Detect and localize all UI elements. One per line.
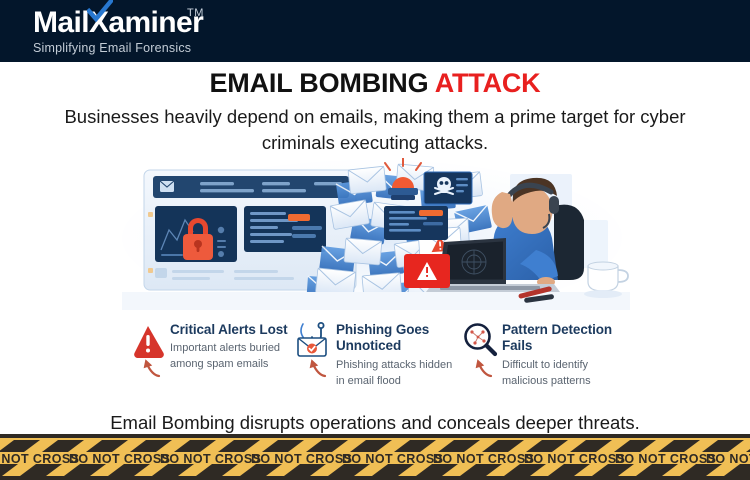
tape-label: DO NOT CROSS — [69, 452, 170, 466]
caution-tape: DO NOT CROSSDO NOT CROSSDO NOT CROSSDO N… — [0, 434, 750, 480]
feature-item-critical-alerts[interactable]: Critical Alerts Lost Important alerts bu… — [128, 322, 294, 400]
curved-arrow-icon — [468, 354, 494, 378]
caution-tape-graphic: DO NOT CROSSDO NOT CROSSDO NOT CROSSDO N… — [0, 434, 750, 480]
infographic-page: MailXaminer TM Simplifying Email Forensi… — [0, 0, 750, 480]
page-subtitle: Businesses heavily depend on emails, mak… — [55, 104, 695, 157]
brand-logo[interactable]: MailXaminer TM Simplifying Email Forensi… — [33, 8, 203, 55]
brand-tagline: Simplifying Email Forensics — [33, 42, 203, 55]
feature-item-phishing[interactable]: Phishing Goes Unnoticed Phishing attacks… — [294, 322, 460, 400]
curved-arrow-icon — [302, 354, 328, 378]
logo-wordmark: MailXaminer TM — [33, 8, 203, 38]
red-alert-card — [404, 254, 450, 288]
title-part-primary: EMAIL BOMBING — [210, 68, 435, 98]
page-title: EMAIL BOMBING ATTACK — [0, 68, 750, 99]
tape-label: DO NOT CROSS — [160, 452, 261, 466]
feature-description: Important alerts buried among spam email… — [170, 341, 294, 372]
footer-caption: Email Bombing disrupts operations and co… — [0, 412, 750, 434]
tape-label: DO NOT CROSS — [0, 452, 79, 466]
feature-description: Phishing attacks hidden in email flood — [336, 358, 460, 389]
title-part-accent: ATTACK — [435, 68, 541, 98]
illustration-artwork — [122, 158, 630, 310]
feature-title: Critical Alerts Lost — [170, 322, 294, 338]
tape-label: DO NOT CROSS — [433, 452, 534, 466]
header-bar: MailXaminer TM Simplifying Email Forensi… — [0, 0, 750, 62]
feature-description: Difficult to identify malicious patterns — [502, 358, 626, 389]
magnifier-pattern-icon — [462, 322, 498, 358]
feature-title: Pattern Detection Fails — [502, 322, 626, 355]
hero-illustration — [122, 158, 630, 310]
warning-triangle-icon — [130, 322, 166, 358]
tape-label: DO NOT CROSS — [524, 452, 625, 466]
tape-label: DO NOT CROSS — [251, 452, 352, 466]
tape-label: DO NOT CROSS — [615, 452, 716, 466]
feature-item-pattern-detection[interactable]: Pattern Detection Fails Difficult to ide… — [460, 322, 626, 400]
feature-title: Phishing Goes Unnoticed — [336, 322, 460, 355]
tape-label: DO NOT CROSS — [342, 452, 443, 466]
logo-text-mail: Mail — [33, 6, 89, 39]
logo-text-x: X — [89, 8, 108, 38]
console-panel — [384, 206, 448, 240]
tape-label: DO NOT CROSS — [706, 452, 750, 466]
skull-alert-screen — [424, 172, 472, 204]
curved-arrow-icon — [136, 354, 162, 378]
phishing-hook-envelope-icon — [296, 322, 332, 358]
trademark-symbol: TM — [187, 8, 204, 19]
feature-list: Critical Alerts Lost Important alerts bu… — [128, 322, 628, 400]
